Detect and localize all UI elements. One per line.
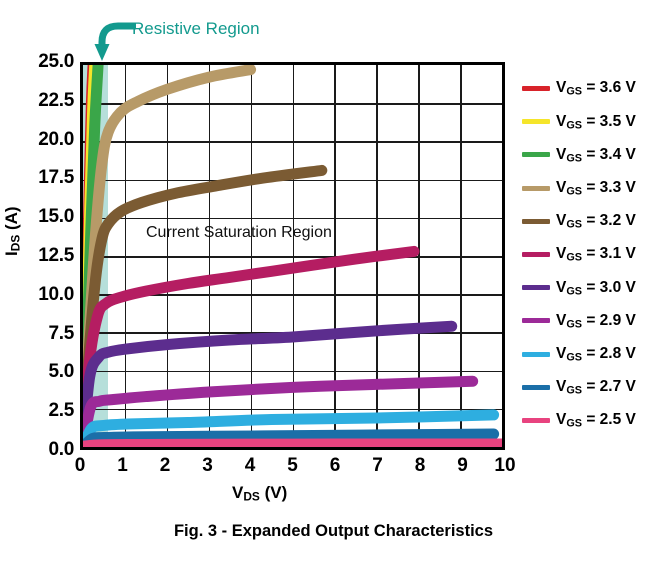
legend-item[interactable]: VGS = 2.5 V: [522, 404, 664, 437]
x-axis-tick-label: 9: [457, 455, 468, 477]
legend-color-swatch: [522, 86, 550, 91]
legend-label: VGS = 2.7 V: [556, 378, 636, 396]
x-axis-tick-label: 7: [372, 455, 383, 477]
legend-label-subscript: GS: [566, 185, 582, 197]
current-saturation-region-label: Current Saturation Region: [146, 224, 332, 242]
x-axis-tick-label: 8: [415, 455, 426, 477]
legend-color-swatch: [522, 252, 550, 257]
figure-caption: Fig. 3 - Expanded Output Characteristics: [0, 522, 667, 541]
legend-label: VGS = 3.1 V: [556, 245, 636, 263]
x-axis-tick-label: 5: [287, 455, 298, 477]
legend-label-main: V: [556, 279, 566, 296]
x-axis-tick-label: 6: [330, 455, 341, 477]
legend-label-value: = 3.5 V: [582, 113, 636, 130]
legend-label-value: = 2.8 V: [582, 345, 636, 362]
legend-item[interactable]: VGS = 3.4 V: [522, 138, 664, 171]
legend-label-subscript: GS: [566, 384, 582, 396]
legend-label: VGS = 3.0 V: [556, 279, 636, 297]
legend-label: VGS = 3.2 V: [556, 212, 636, 230]
legend-color-swatch: [522, 352, 550, 357]
y-axis-tick-label: 7.5: [48, 323, 74, 345]
y-axis-title-main: I: [2, 251, 21, 256]
x-axis-tick-label: 10: [494, 455, 515, 477]
legend-label-value: = 3.4 V: [582, 146, 636, 163]
legend-item[interactable]: VGS = 2.8 V: [522, 338, 664, 371]
legend-item[interactable]: VGS = 3.1 V: [522, 238, 664, 271]
legend-label: VGS = 3.6 V: [556, 79, 636, 97]
y-axis-tick-label: 12.5: [38, 245, 74, 267]
legend-label-subscript: GS: [566, 252, 582, 264]
x-axis-title: VDS (V): [232, 483, 287, 504]
legend-item[interactable]: VGS = 3.2 V: [522, 205, 664, 238]
legend: VGS = 3.6 VVGS = 3.5 VVGS = 3.4 VVGS = 3…: [522, 72, 664, 437]
y-axis-title: IDS (A): [2, 206, 23, 256]
resistive-region-label: Resistive Region: [132, 19, 260, 39]
curve-layer: [83, 65, 502, 447]
y-axis-tick-label: 0.0: [48, 439, 74, 461]
legend-item[interactable]: VGS = 3.6 V: [522, 72, 664, 105]
x-axis-tick-label: 3: [202, 455, 213, 477]
y-axis-tick-label: 22.5: [38, 90, 74, 112]
legend-label: VGS = 2.8 V: [556, 345, 636, 363]
legend-label-subscript: GS: [566, 152, 582, 164]
legend-color-swatch: [522, 385, 550, 390]
x-axis-title-unit: (V): [260, 483, 287, 502]
y-axis-tick-label: 5.0: [48, 361, 74, 383]
legend-label-subscript: GS: [566, 219, 582, 231]
legend-label-value: = 3.3 V: [582, 179, 636, 196]
legend-label-main: V: [556, 345, 566, 362]
legend-label-main: V: [556, 411, 566, 428]
x-axis-tick-label: 4: [245, 455, 256, 477]
legend-label-main: V: [556, 378, 566, 395]
legend-label-value: = 3.6 V: [582, 79, 636, 96]
legend-color-swatch: [522, 418, 550, 423]
y-axis-title-unit: (A): [2, 206, 21, 234]
legend-label-subscript: GS: [566, 318, 582, 330]
legend-label-main: V: [556, 245, 566, 262]
legend-color-swatch: [522, 219, 550, 224]
plot-inner: [83, 65, 502, 447]
legend-item[interactable]: VGS = 3.3 V: [522, 172, 664, 205]
legend-label: VGS = 2.9 V: [556, 312, 636, 330]
legend-item[interactable]: VGS = 3.5 V: [522, 105, 664, 138]
y-axis-tick-label: 10.0: [38, 284, 74, 306]
plot-area: [80, 62, 505, 450]
legend-label: VGS = 2.5 V: [556, 411, 636, 429]
y-axis-tick-label: 20.0: [38, 129, 74, 151]
y-axis-tick-label: 2.5: [48, 400, 74, 422]
legend-label-subscript: GS: [566, 86, 582, 98]
legend-label-subscript: GS: [566, 418, 582, 430]
legend-label: VGS = 3.3 V: [556, 179, 636, 197]
x-axis-title-main: V: [232, 483, 243, 502]
y-axis-tick-label: 15.0: [38, 206, 74, 228]
y-axis-tick-labels: 0.02.55.07.510.012.515.017.520.022.525.0: [18, 62, 74, 450]
legend-item[interactable]: VGS = 2.9 V: [522, 304, 664, 337]
legend-label-main: V: [556, 312, 566, 329]
x-axis-tick-labels: 012345678910: [80, 455, 505, 481]
legend-label-main: V: [556, 212, 566, 229]
x-axis-tick-label: 1: [117, 455, 128, 477]
legend-label-value: = 2.9 V: [582, 312, 636, 329]
legend-label: VGS = 3.4 V: [556, 146, 636, 164]
legend-color-swatch: [522, 119, 550, 124]
legend-color-swatch: [522, 186, 550, 191]
legend-label-main: V: [556, 113, 566, 130]
legend-label-value: = 2.7 V: [582, 378, 636, 395]
data-curve: [83, 170, 322, 447]
x-axis-tick-label: 0: [75, 455, 86, 477]
legend-label-subscript: GS: [566, 285, 582, 297]
legend-label-value: = 2.5 V: [582, 411, 636, 428]
data-curve: [83, 444, 502, 446]
y-axis-tick-label: 25.0: [38, 51, 74, 73]
legend-item[interactable]: VGS = 3.0 V: [522, 271, 664, 304]
x-axis-title-subscript: DS: [243, 490, 260, 504]
legend-item[interactable]: VGS = 2.7 V: [522, 371, 664, 404]
legend-label-main: V: [556, 179, 566, 196]
y-axis-tick-label: 17.5: [38, 167, 74, 189]
legend-label-subscript: GS: [566, 119, 582, 131]
x-axis-tick-label: 2: [160, 455, 171, 477]
figure-output-characteristics: 0.02.55.07.510.012.515.017.520.022.525.0…: [0, 0, 667, 577]
legend-label-main: V: [556, 146, 566, 163]
legend-label: VGS = 3.5 V: [556, 113, 636, 131]
legend-label-value: = 3.0 V: [582, 279, 636, 296]
y-axis-title-subscript: DS: [9, 235, 23, 252]
legend-label-main: V: [556, 79, 566, 96]
legend-label-value: = 3.1 V: [582, 245, 636, 262]
legend-color-swatch: [522, 285, 550, 290]
legend-label-value: = 3.2 V: [582, 212, 636, 229]
legend-color-swatch: [522, 318, 550, 323]
legend-label-subscript: GS: [566, 351, 582, 363]
legend-color-swatch: [522, 152, 550, 157]
